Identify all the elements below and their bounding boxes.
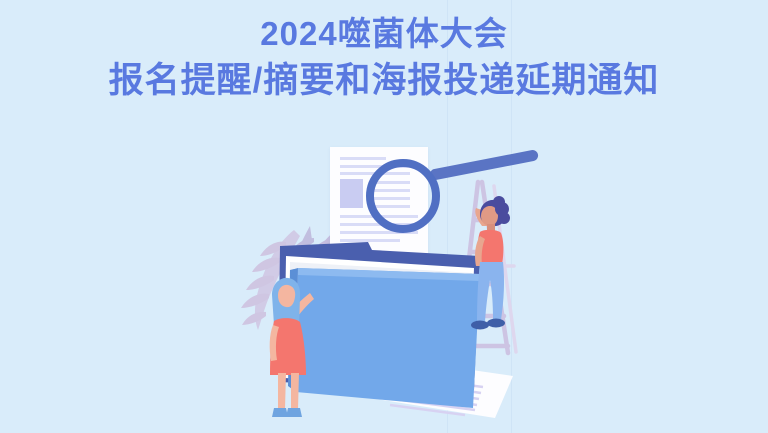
page-title: 2024噬菌体大会 报名提醒/摘要和海报投递延期通知: [0, 14, 768, 102]
title-line-1: 2024噬菌体大会: [0, 14, 768, 55]
document-image-block: [340, 179, 363, 208]
announcement-banner: 2024噬菌体大会 报名提醒/摘要和海报投递延期通知: [0, 0, 768, 433]
title-line-2: 报名提醒/摘要和海报投递延期通知: [0, 59, 768, 102]
magnifier-ring: [366, 159, 440, 233]
person-on-ladder: [460, 196, 522, 351]
woman-with-folder: [258, 277, 318, 427]
magnifier-handle: [429, 149, 539, 181]
